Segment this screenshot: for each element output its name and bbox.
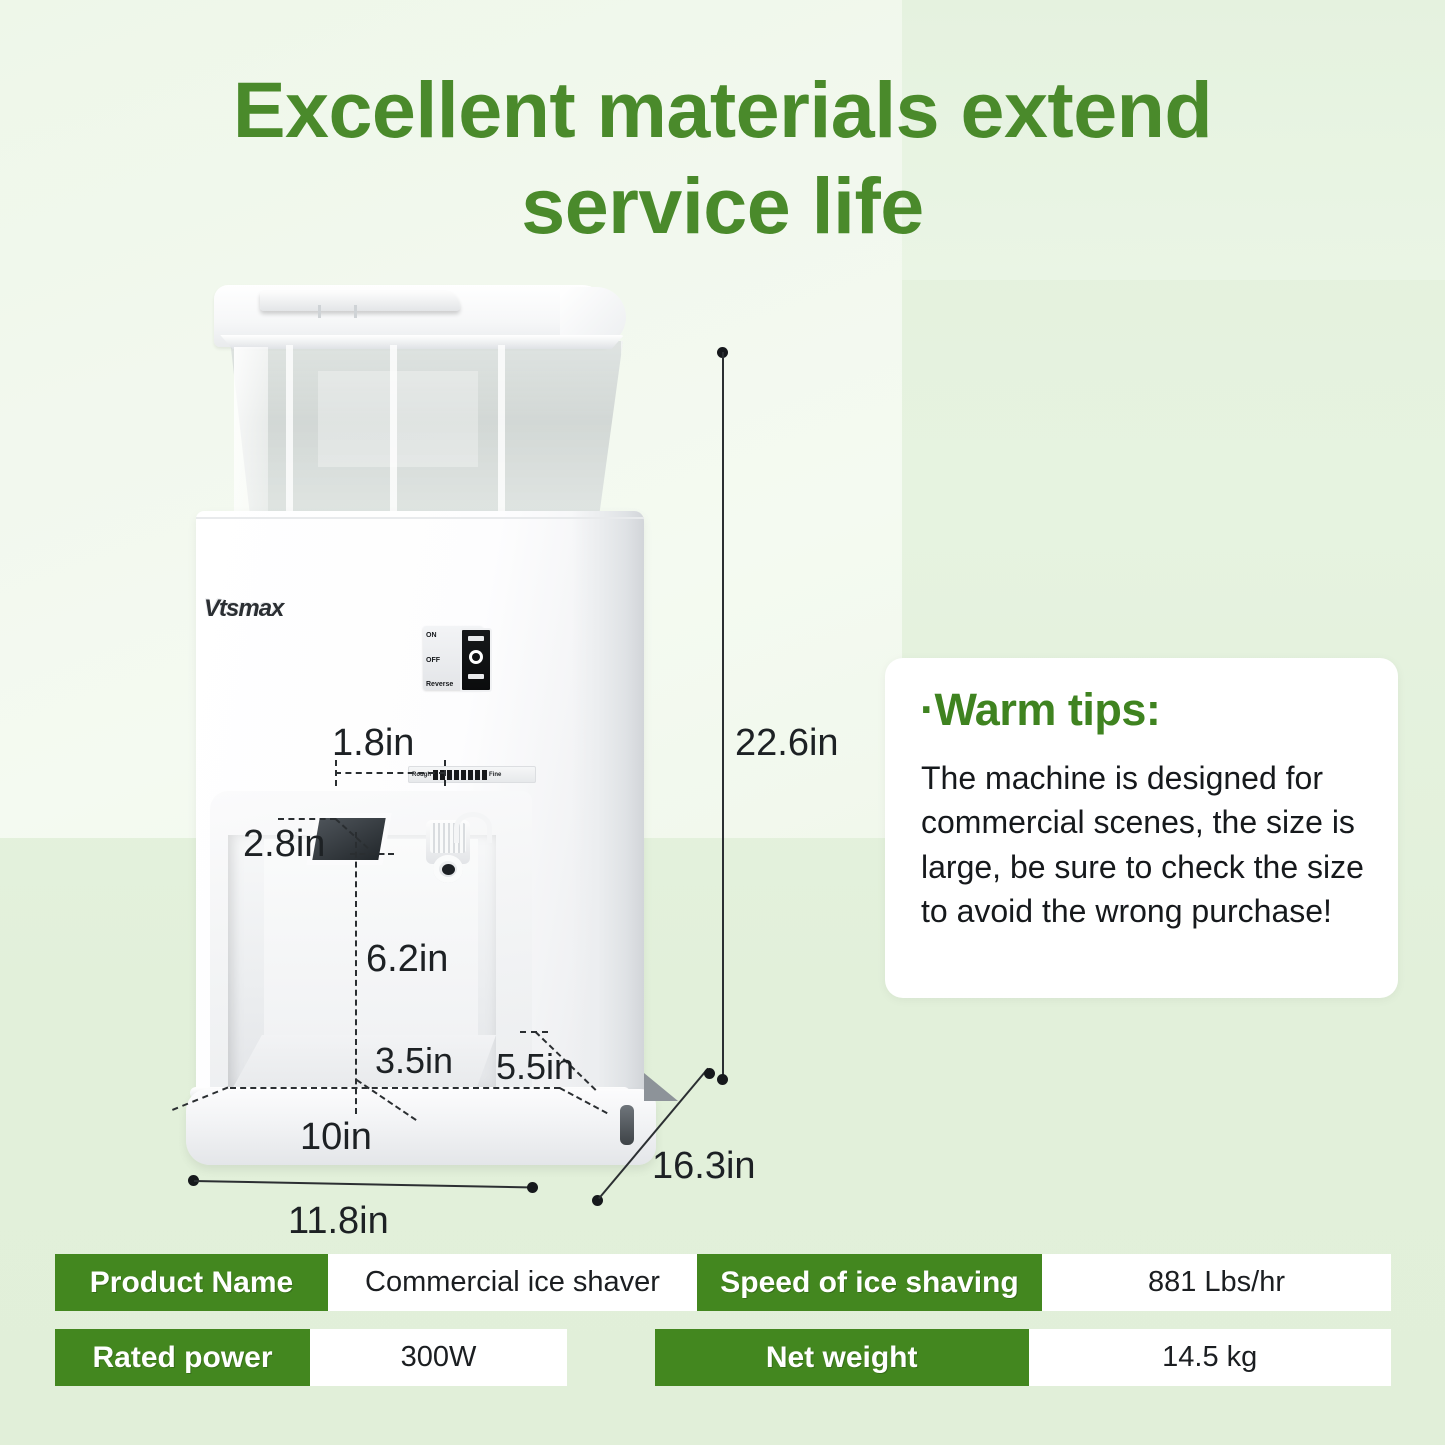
dim-dot-height-bottom bbox=[717, 1074, 728, 1085]
dim-line-10in bbox=[230, 1087, 560, 1089]
hopper-bar bbox=[390, 345, 397, 521]
scale-tick bbox=[482, 770, 487, 780]
dim-label-3-5in: 3.5in bbox=[375, 1040, 453, 1082]
dim-line-2-8in-top bbox=[278, 818, 336, 820]
scale-tick bbox=[447, 770, 452, 780]
headline-line-2: service life bbox=[0, 158, 1445, 254]
warm-tips-body: The machine is designed for commercial s… bbox=[921, 756, 1371, 934]
body-seam-line bbox=[196, 517, 644, 519]
knob-bracket bbox=[454, 812, 492, 843]
knob-center-hole bbox=[433, 855, 463, 883]
table-spacer bbox=[567, 1329, 655, 1386]
dim-label-6-2in: 6.2in bbox=[366, 938, 448, 981]
lid-notch-left bbox=[318, 305, 321, 318]
scale-tick bbox=[433, 770, 438, 780]
spec-value-rated-power: 300W bbox=[310, 1329, 567, 1386]
lid-notch-right bbox=[354, 305, 357, 318]
dim-label-11-8in: 11.8in bbox=[288, 1200, 389, 1243]
hopper-highlight bbox=[234, 347, 268, 519]
lid-flap bbox=[260, 291, 460, 311]
dim-label-1-8in: 1.8in bbox=[332, 722, 414, 765]
headline-line-1: Excellent materials extend bbox=[233, 65, 1212, 154]
table-row: Rated power 300W Net weight 14.5 kg bbox=[55, 1329, 1391, 1386]
switch-label-reverse: Reverse bbox=[426, 681, 456, 688]
rear-vent bbox=[644, 1073, 678, 1101]
ice-texture-scale-strip: Rough Fine bbox=[408, 766, 536, 783]
hopper-rim bbox=[212, 335, 624, 349]
spec-header-net-weight: Net weight bbox=[655, 1329, 1029, 1386]
rocker-line-top bbox=[468, 636, 484, 641]
brand-logo: Vtsmax bbox=[204, 595, 283, 623]
dim-label-16-3in: 16.3in bbox=[652, 1145, 756, 1188]
machine-body-side bbox=[572, 511, 644, 1123]
warm-tips-title: ·Warm tips: bbox=[920, 684, 1160, 736]
dim-label-10in: 10in bbox=[300, 1116, 372, 1159]
scale-tick bbox=[475, 770, 480, 780]
switch-label-off: OFF bbox=[426, 657, 456, 664]
dim-label-5-5in: 5.5in bbox=[496, 1046, 574, 1088]
dim-dot-11-8in-right bbox=[527, 1182, 538, 1193]
spec-value-product-name: Commercial ice shaver bbox=[328, 1254, 697, 1311]
spec-value-net-weight: 14.5 kg bbox=[1029, 1329, 1392, 1386]
dim-line-22-6in bbox=[722, 352, 724, 1080]
dim-dot-16-3in-high bbox=[704, 1068, 715, 1079]
scale-tick bbox=[461, 770, 466, 780]
table-row: Product Name Commercial ice shaver Speed… bbox=[55, 1254, 1391, 1311]
warm-tips-card: ·Warm tips: The machine is designed for … bbox=[885, 658, 1398, 998]
switch-label-on: ON bbox=[426, 632, 456, 639]
scale-tick bbox=[454, 770, 459, 780]
infographic-page: Excellent materials extend service life … bbox=[0, 0, 1445, 1445]
page-title: Excellent materials extend service life bbox=[0, 62, 1445, 255]
scale-tick bbox=[468, 770, 473, 780]
rocker-line-bottom bbox=[468, 674, 484, 679]
spec-header-rated-power: Rated power bbox=[55, 1329, 310, 1386]
dim-tick-1-8in-right bbox=[444, 760, 446, 786]
spec-header-speed: Speed of ice shaving bbox=[697, 1254, 1042, 1311]
specification-table: Product Name Commercial ice shaver Speed… bbox=[55, 1254, 1391, 1404]
dim-tick-5-5in bbox=[520, 1031, 548, 1033]
switch-labels: ON OFF Reverse bbox=[426, 630, 456, 690]
rocker-center-dot bbox=[469, 650, 483, 664]
dim-line-6-2in bbox=[355, 832, 357, 1114]
hopper-inner-panel bbox=[318, 371, 478, 467]
dim-label-22-6in: 22.6in bbox=[735, 722, 839, 765]
hopper-bar bbox=[498, 345, 505, 521]
power-rocker-switch[interactable] bbox=[460, 628, 492, 692]
power-cord-port bbox=[620, 1105, 634, 1145]
spec-header-product-name: Product Name bbox=[55, 1254, 328, 1311]
spec-value-speed: 881 Lbs/hr bbox=[1042, 1254, 1391, 1311]
dim-line-1-8in bbox=[335, 772, 445, 774]
scale-label-fine: Fine bbox=[489, 772, 501, 778]
dim-label-2-8in: 2.8in bbox=[243, 823, 325, 866]
hopper-bar bbox=[286, 345, 293, 521]
